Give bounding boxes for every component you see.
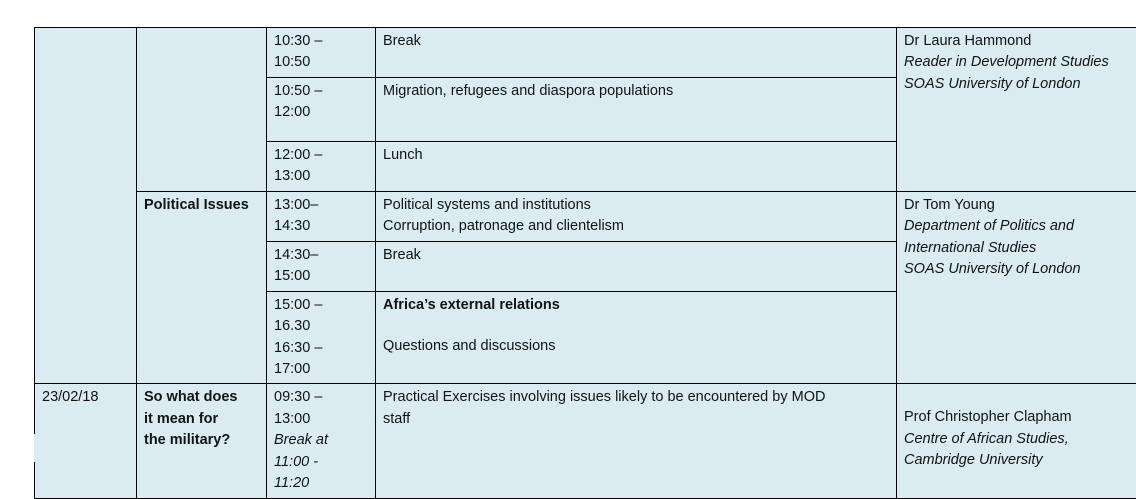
cell-time: 12:00 – 13:00 [267, 141, 376, 191]
cell-time: 15:00 – 16.30 16:30 – 17:00 [267, 291, 376, 384]
cell-time: 14:30– 15:00 [267, 241, 376, 291]
topic-line: Practical Exercises involving issues lik… [383, 387, 890, 408]
instructor-name: Prof Christopher Clapham [904, 407, 1136, 428]
cell-time: 13:00– 14:30 [267, 191, 376, 241]
instructor-name: Dr Laura Hammond [904, 31, 1136, 52]
table-row: Political Issues 13:00– 14:30 Political … [35, 191, 1136, 241]
instructor-institution: SOAS University of London [904, 259, 1136, 280]
instructor-role-cont: International Studies [904, 238, 1136, 259]
cell-session-title: Political Issues [137, 191, 267, 384]
table-row: 23/02/18 So what does it mean for the mi… [35, 384, 1136, 498]
cell-time: 09:30 – 13:00 Break at 11:00 - 11:20 [267, 384, 376, 498]
topic-line: Migration, refugees and diaspora populat… [383, 81, 890, 102]
cell-topic: Practical Exercises involving issues lik… [376, 384, 897, 498]
document-page: 10:30 – 10:50 Break Dr Laura Hammond Rea… [0, 0, 1136, 462]
cell-instructor: Prof Christopher Clapham Centre of Afric… [897, 384, 1136, 498]
topic-line: Political systems and institutions [383, 195, 890, 216]
time-line: 13:00– [274, 195, 369, 216]
instructor-role: Centre of African Studies, [904, 429, 1136, 450]
cell-time: 10:30 – 10:50 [267, 28, 376, 78]
instructor-role: Department of Politics and [904, 216, 1136, 237]
topic-heading: Africa’s external relations [383, 295, 890, 316]
topic-spacer [383, 316, 890, 336]
topic-line: Questions and discussions [383, 336, 890, 357]
cell-title-empty [137, 28, 267, 192]
cell-topic: Break [376, 241, 897, 291]
time-line: 13:00 [274, 166, 369, 187]
cell-topic: Africa’s external relations Questions an… [376, 291, 897, 384]
cell-topic: Migration, refugees and diaspora populat… [376, 77, 897, 141]
cell-session-title: So what does it mean for the military? [137, 384, 267, 498]
instructor-spacer [904, 387, 1136, 407]
session-title-line: So what does [144, 387, 260, 408]
page-margin-block [34, 434, 122, 462]
time-line: 10:50 – [274, 81, 369, 102]
schedule-table: 10:30 – 10:50 Break Dr Laura Hammond Rea… [34, 27, 1136, 499]
instructor-name: Dr Tom Young [904, 195, 1136, 216]
cell-instructor: Dr Laura Hammond Reader in Development S… [897, 28, 1136, 192]
topic-line: Lunch [383, 145, 890, 166]
instructor-institution: SOAS University of London [904, 74, 1136, 95]
time-line: 12:00 [274, 102, 369, 123]
session-title-line: the military? [144, 430, 260, 451]
time-line: 10:50 [274, 52, 369, 73]
time-note-line: 11:20 [274, 473, 369, 494]
topic-line: staff [383, 409, 890, 430]
cell-time: 10:50 – 12:00 [267, 77, 376, 141]
time-line: 14:30 [274, 216, 369, 237]
time-line: 16.30 [274, 316, 369, 337]
time-line: 15:00 [274, 266, 369, 287]
time-note-line: 11:00 - [274, 452, 369, 473]
cell-topic: Political systems and institutions Corru… [376, 191, 897, 241]
time-line: 10:30 – [274, 31, 369, 52]
table-row: 10:30 – 10:50 Break Dr Laura Hammond Rea… [35, 28, 1136, 78]
time-line: 16:30 – [274, 338, 369, 359]
time-line: 17:00 [274, 359, 369, 380]
time-line: 14:30– [274, 245, 369, 266]
topic-line: Break [383, 245, 890, 266]
time-line: 12:00 – [274, 145, 369, 166]
time-line: 15:00 – [274, 295, 369, 316]
cell-topic: Lunch [376, 141, 897, 191]
topic-line: Break [383, 31, 890, 52]
cell-instructor: Dr Tom Young Department of Politics and … [897, 191, 1136, 384]
time-note-line: Break at [274, 430, 369, 451]
cell-topic: Break [376, 28, 897, 78]
time-line: 09:30 – [274, 387, 369, 408]
topic-line: Corruption, patronage and clientelism [383, 216, 890, 237]
cell-date-empty [35, 28, 137, 384]
instructor-role: Reader in Development Studies [904, 52, 1136, 73]
time-line: 13:00 [274, 409, 369, 430]
session-title-line: it mean for [144, 409, 260, 430]
instructor-institution: Cambridge University [904, 450, 1136, 471]
